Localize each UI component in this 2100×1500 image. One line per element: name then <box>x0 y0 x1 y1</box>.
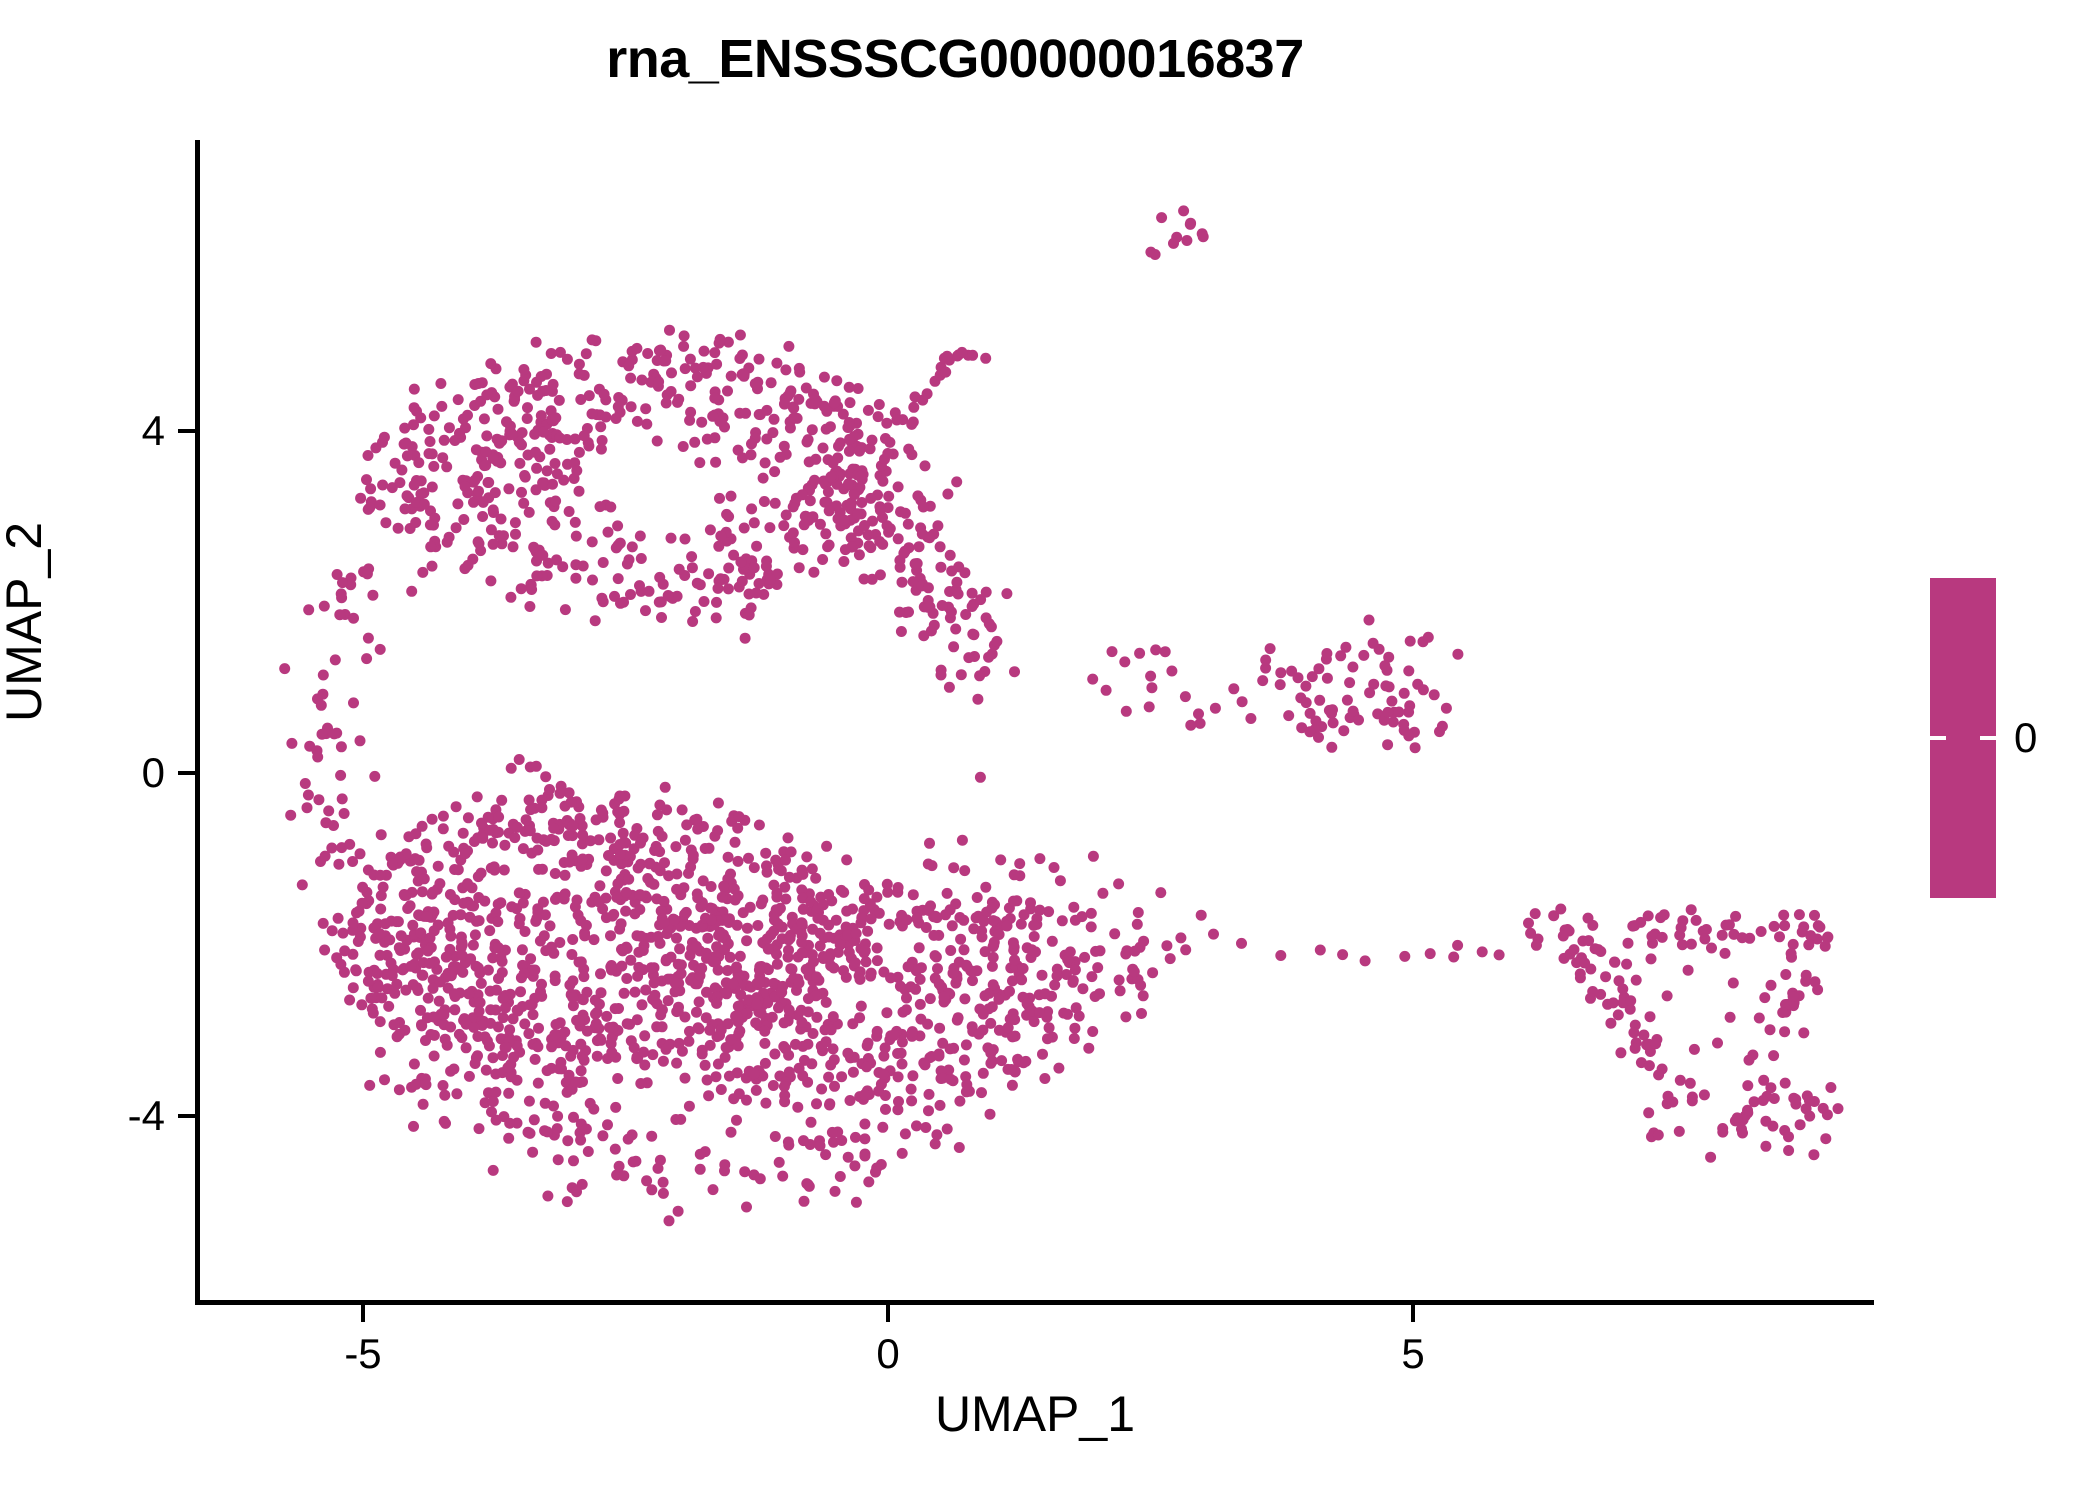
y-tick-mark <box>178 429 195 433</box>
colorbar-tick-label: 0 <box>2014 714 2037 762</box>
x-tick-mark <box>886 1305 890 1322</box>
plot-panel <box>195 140 1875 1304</box>
y-tick-label: -4 <box>128 1092 165 1140</box>
y-tick-mark <box>178 1114 195 1118</box>
x-axis-line <box>195 1300 1874 1305</box>
umap-scatter-plot: rna_ENSSSCG00000016837 UMAP_2 UMAP_1 0 -… <box>0 0 2100 1500</box>
x-tick-label: 0 <box>876 1330 899 1378</box>
y-axis-line <box>195 140 200 1305</box>
colorbar-tick-right <box>1980 736 1996 740</box>
y-tick-mark <box>178 771 195 775</box>
page-title: rna_ENSSSCG00000016837 <box>0 28 1910 90</box>
colorbar-gradient <box>1930 578 1996 898</box>
y-tick-label: 4 <box>142 407 165 455</box>
x-axis-title: UMAP_1 <box>195 1385 1875 1443</box>
scatter-point-layer <box>195 140 1875 1304</box>
y-axis-title: UMAP_2 <box>0 522 53 722</box>
x-tick-label: -5 <box>344 1330 381 1378</box>
x-tick-mark <box>1411 1305 1415 1322</box>
y-tick-label: 0 <box>142 749 165 797</box>
x-tick-label: 5 <box>1401 1330 1424 1378</box>
colorbar-tick-left <box>1930 736 1946 740</box>
x-tick-mark <box>361 1305 365 1322</box>
legend-colorbar: 0 <box>1930 578 2090 908</box>
